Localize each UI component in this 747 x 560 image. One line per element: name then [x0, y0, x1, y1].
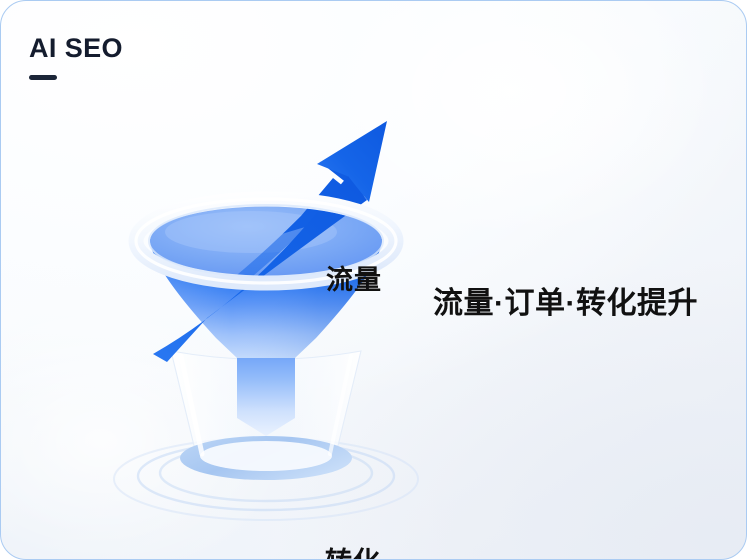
ai-seo-banner-card: AI SEO 流量·订单·转化提升 [0, 0, 747, 560]
tagline-text: 流量·订单·转化提升 [433, 278, 698, 322]
funnel-svg [101, 106, 431, 526]
title-block: AI SEO [29, 34, 123, 80]
funnel-label-traffic: 流量 [326, 258, 382, 297]
title-underline-rule [29, 75, 57, 80]
conversion-funnel-illustration: 流量 转化 [101, 106, 431, 526]
page-title: AI SEO [29, 34, 123, 62]
funnel-label-conversion: 转化 [325, 540, 381, 560]
